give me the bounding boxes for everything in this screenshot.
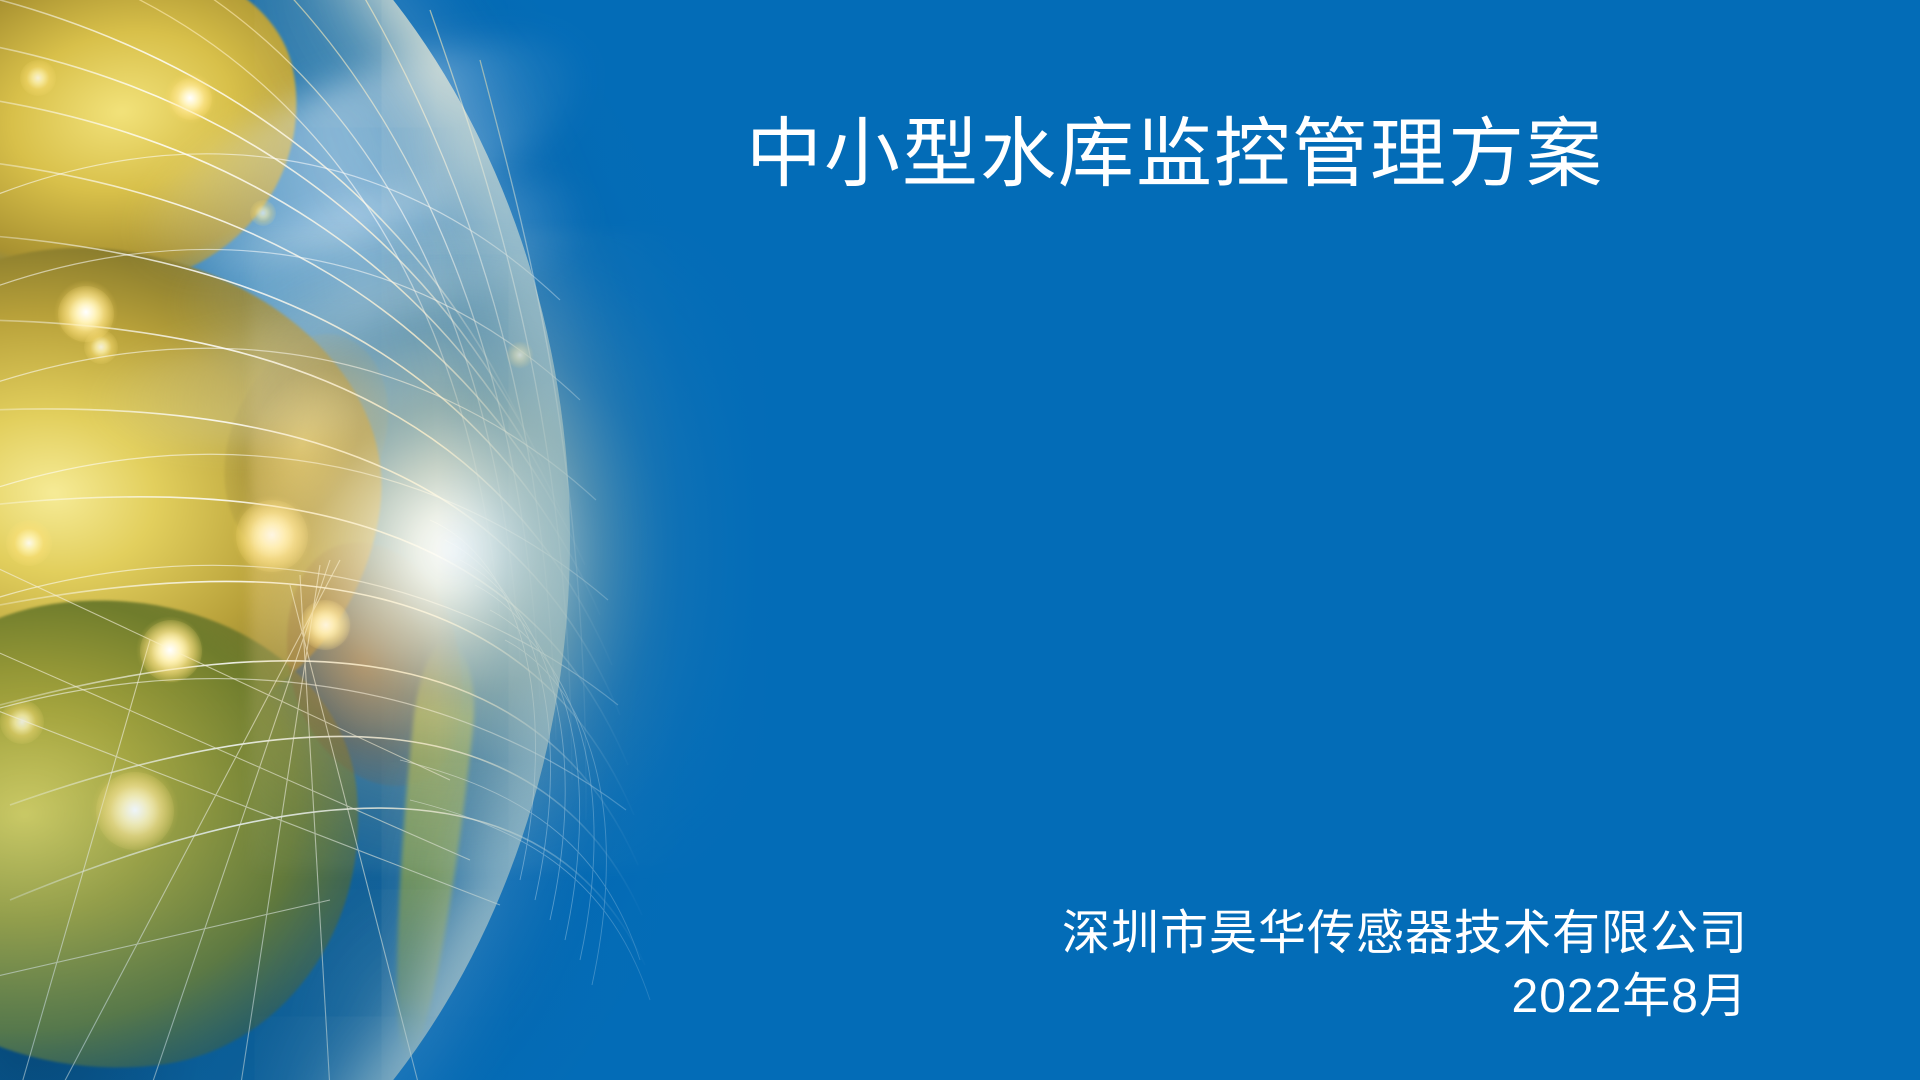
sun-glare xyxy=(250,230,780,870)
slide-footer: 深圳市昊华传感器技术有限公司 2022年8月 xyxy=(1062,903,1748,1028)
slide-date: 2022年8月 xyxy=(1062,966,1748,1028)
title-slide: 中小型水库监控管理方案 深圳市昊华传感器技术有限公司 2022年8月 xyxy=(0,0,1920,1080)
slide-title: 中小型水库监控管理方案 xyxy=(560,112,1790,199)
company-name: 深圳市昊华传感器技术有限公司 xyxy=(1062,903,1748,965)
